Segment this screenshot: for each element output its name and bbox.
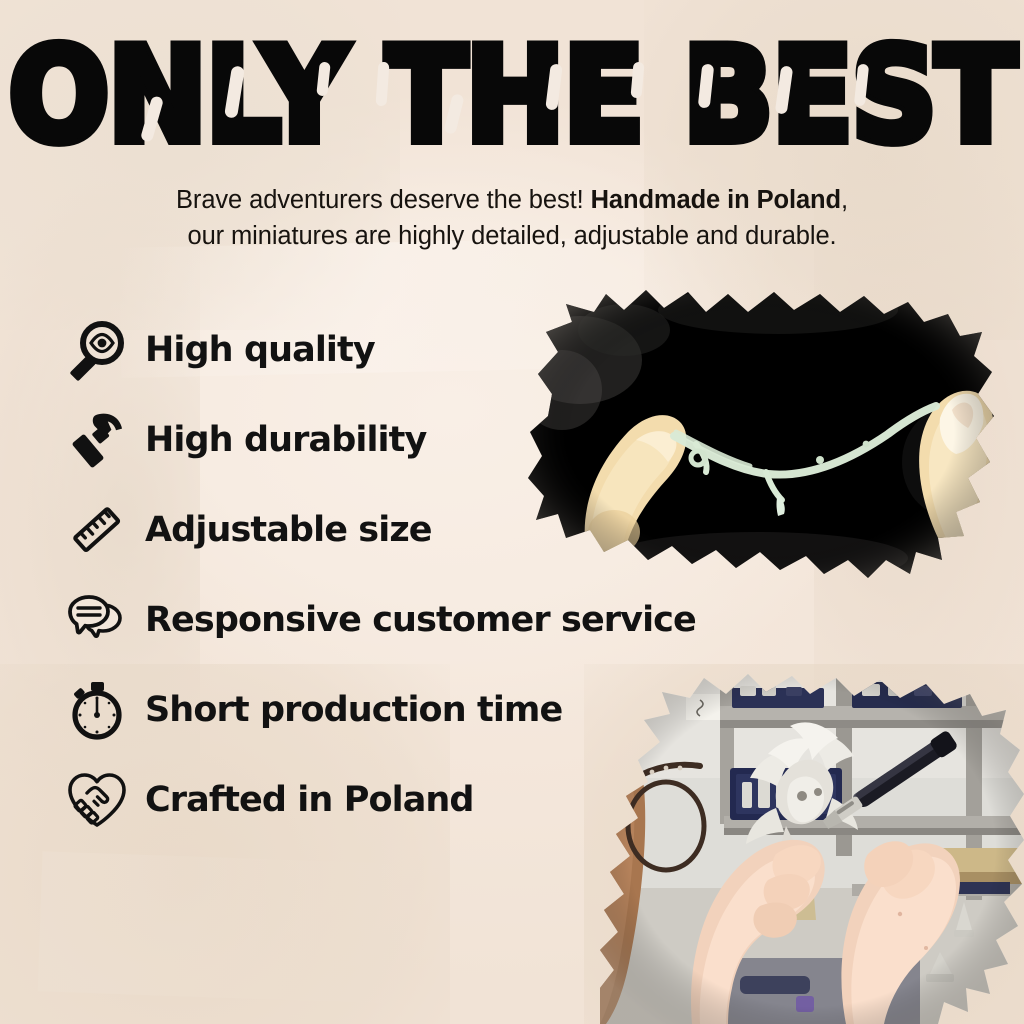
feature-label: High quality	[145, 333, 375, 368]
page-title: ONLY THE BEST	[9, 30, 1015, 160]
feature-label: High durability	[145, 423, 426, 458]
subtitle: Brave adventurers deserve the best! Hand…	[0, 182, 1024, 254]
feature-label: Adjustable size	[145, 513, 432, 548]
subtitle-line-1-pre: Brave adventurers deserve the best!	[176, 186, 591, 214]
feature-label: Short production time	[145, 693, 562, 728]
stopwatch-icon	[58, 671, 136, 749]
hammer-icon	[58, 401, 136, 479]
ruler-icon	[58, 491, 136, 569]
photo-workshop-crafting	[600, 658, 1024, 1024]
headline-container: ONLY THE BEST	[0, 36, 1024, 154]
speech-bubbles-icon	[58, 581, 136, 659]
poster-canvas: ONLY THE BEST Brave adventurers deserve …	[0, 0, 1024, 1024]
subtitle-line-2: our miniatures are highly detailed, adju…	[0, 218, 1024, 254]
feature-label: Responsive customer service	[145, 603, 696, 638]
feature-label: Crafted in Poland	[145, 783, 474, 818]
handshake-heart-icon	[58, 761, 136, 839]
background-wash-streak-lower	[38, 851, 543, 1008]
subtitle-line-1: Brave adventurers deserve the best! Hand…	[0, 182, 1024, 218]
feature-item-responsive-customer-service: Responsive customer service	[58, 575, 758, 665]
photo-flexible-miniature	[528, 282, 998, 582]
photo-bottom-svg	[600, 658, 1024, 1024]
magnifier-eye-icon	[58, 311, 136, 389]
photo-top-svg	[528, 282, 998, 582]
subtitle-line-1-post: ,	[841, 186, 848, 214]
subtitle-highlight: Handmade in Poland	[591, 186, 841, 214]
